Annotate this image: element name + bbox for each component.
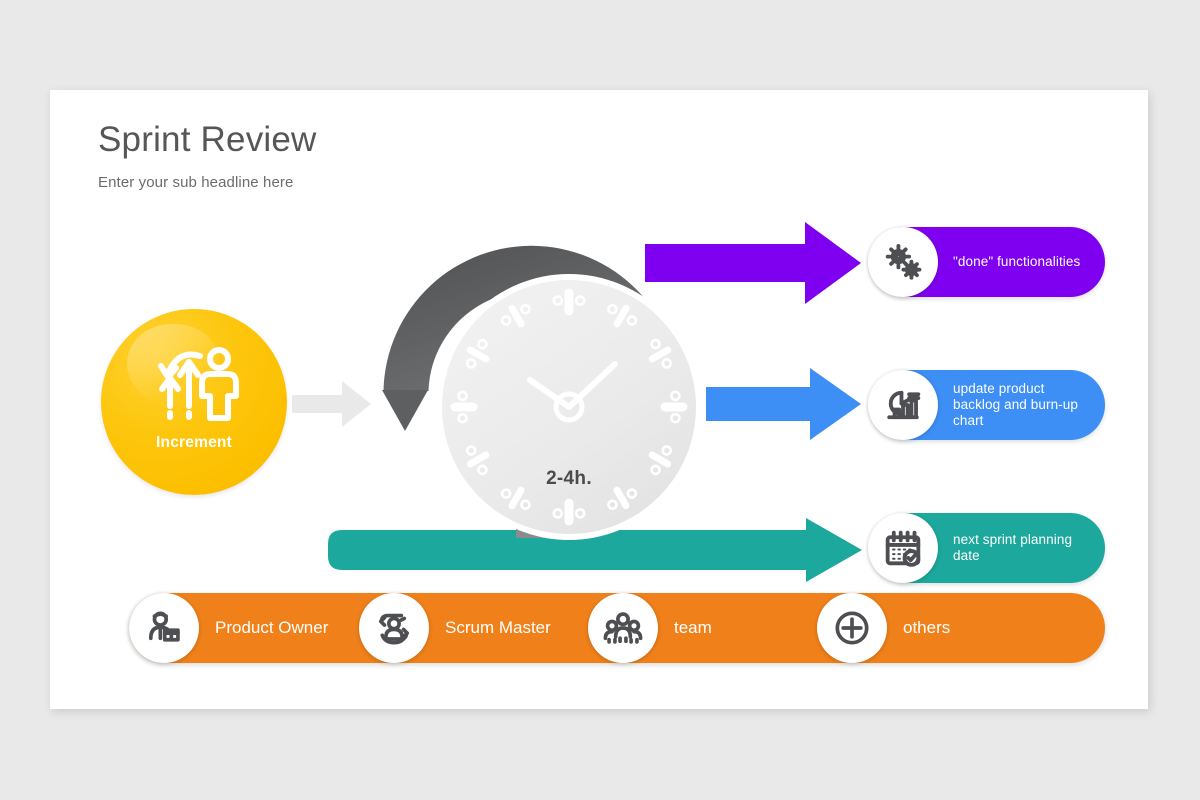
output-pill-done[interactable]: "done" functionalities [869, 227, 1105, 297]
increment-label: Increment [101, 434, 287, 452]
purple-right-arrow-icon [645, 222, 861, 304]
role-label: team [674, 618, 712, 638]
output-pill-update[interactable]: update product backlog and burn-up chart [869, 370, 1105, 440]
clock-duration-label: 2-4h. [434, 272, 704, 542]
slide-canvas: Sprint Review Enter your sub headline he… [0, 0, 1200, 800]
output-pill-next[interactable]: next sprint planning date [869, 513, 1105, 583]
person-cycle-icon [359, 593, 429, 663]
role-label: Product Owner [215, 618, 328, 638]
person-growth-arrows-icon [148, 344, 240, 422]
person-box-icon [129, 593, 199, 663]
output-pill-label: next sprint planning date [953, 532, 1091, 564]
output-pill-label: update product backlog and burn-up chart [953, 381, 1091, 429]
plus-circle-icon [817, 593, 887, 663]
calendar-check-icon [868, 513, 938, 583]
blue-right-arrow-icon [706, 368, 861, 440]
role-item-team[interactable]: team [588, 593, 712, 663]
role-label: Scrum Master [445, 618, 551, 638]
increment-node[interactable]: Increment [101, 309, 287, 495]
output-pill-label: "done" functionalities [953, 254, 1080, 270]
role-item-others[interactable]: others [817, 593, 950, 663]
chart-report-icon [868, 370, 938, 440]
role-label: others [903, 618, 950, 638]
people-group-icon [588, 593, 658, 663]
role-item-product-owner[interactable]: Product Owner [129, 593, 328, 663]
page-subtitle: Enter your sub headline here [98, 174, 293, 191]
page-title: Sprint Review [98, 120, 317, 160]
role-item-scrum-master[interactable]: Scrum Master [359, 593, 551, 663]
gears-icon [868, 227, 938, 297]
roles-bar: Product Owner Scrum Maste [129, 593, 1105, 663]
